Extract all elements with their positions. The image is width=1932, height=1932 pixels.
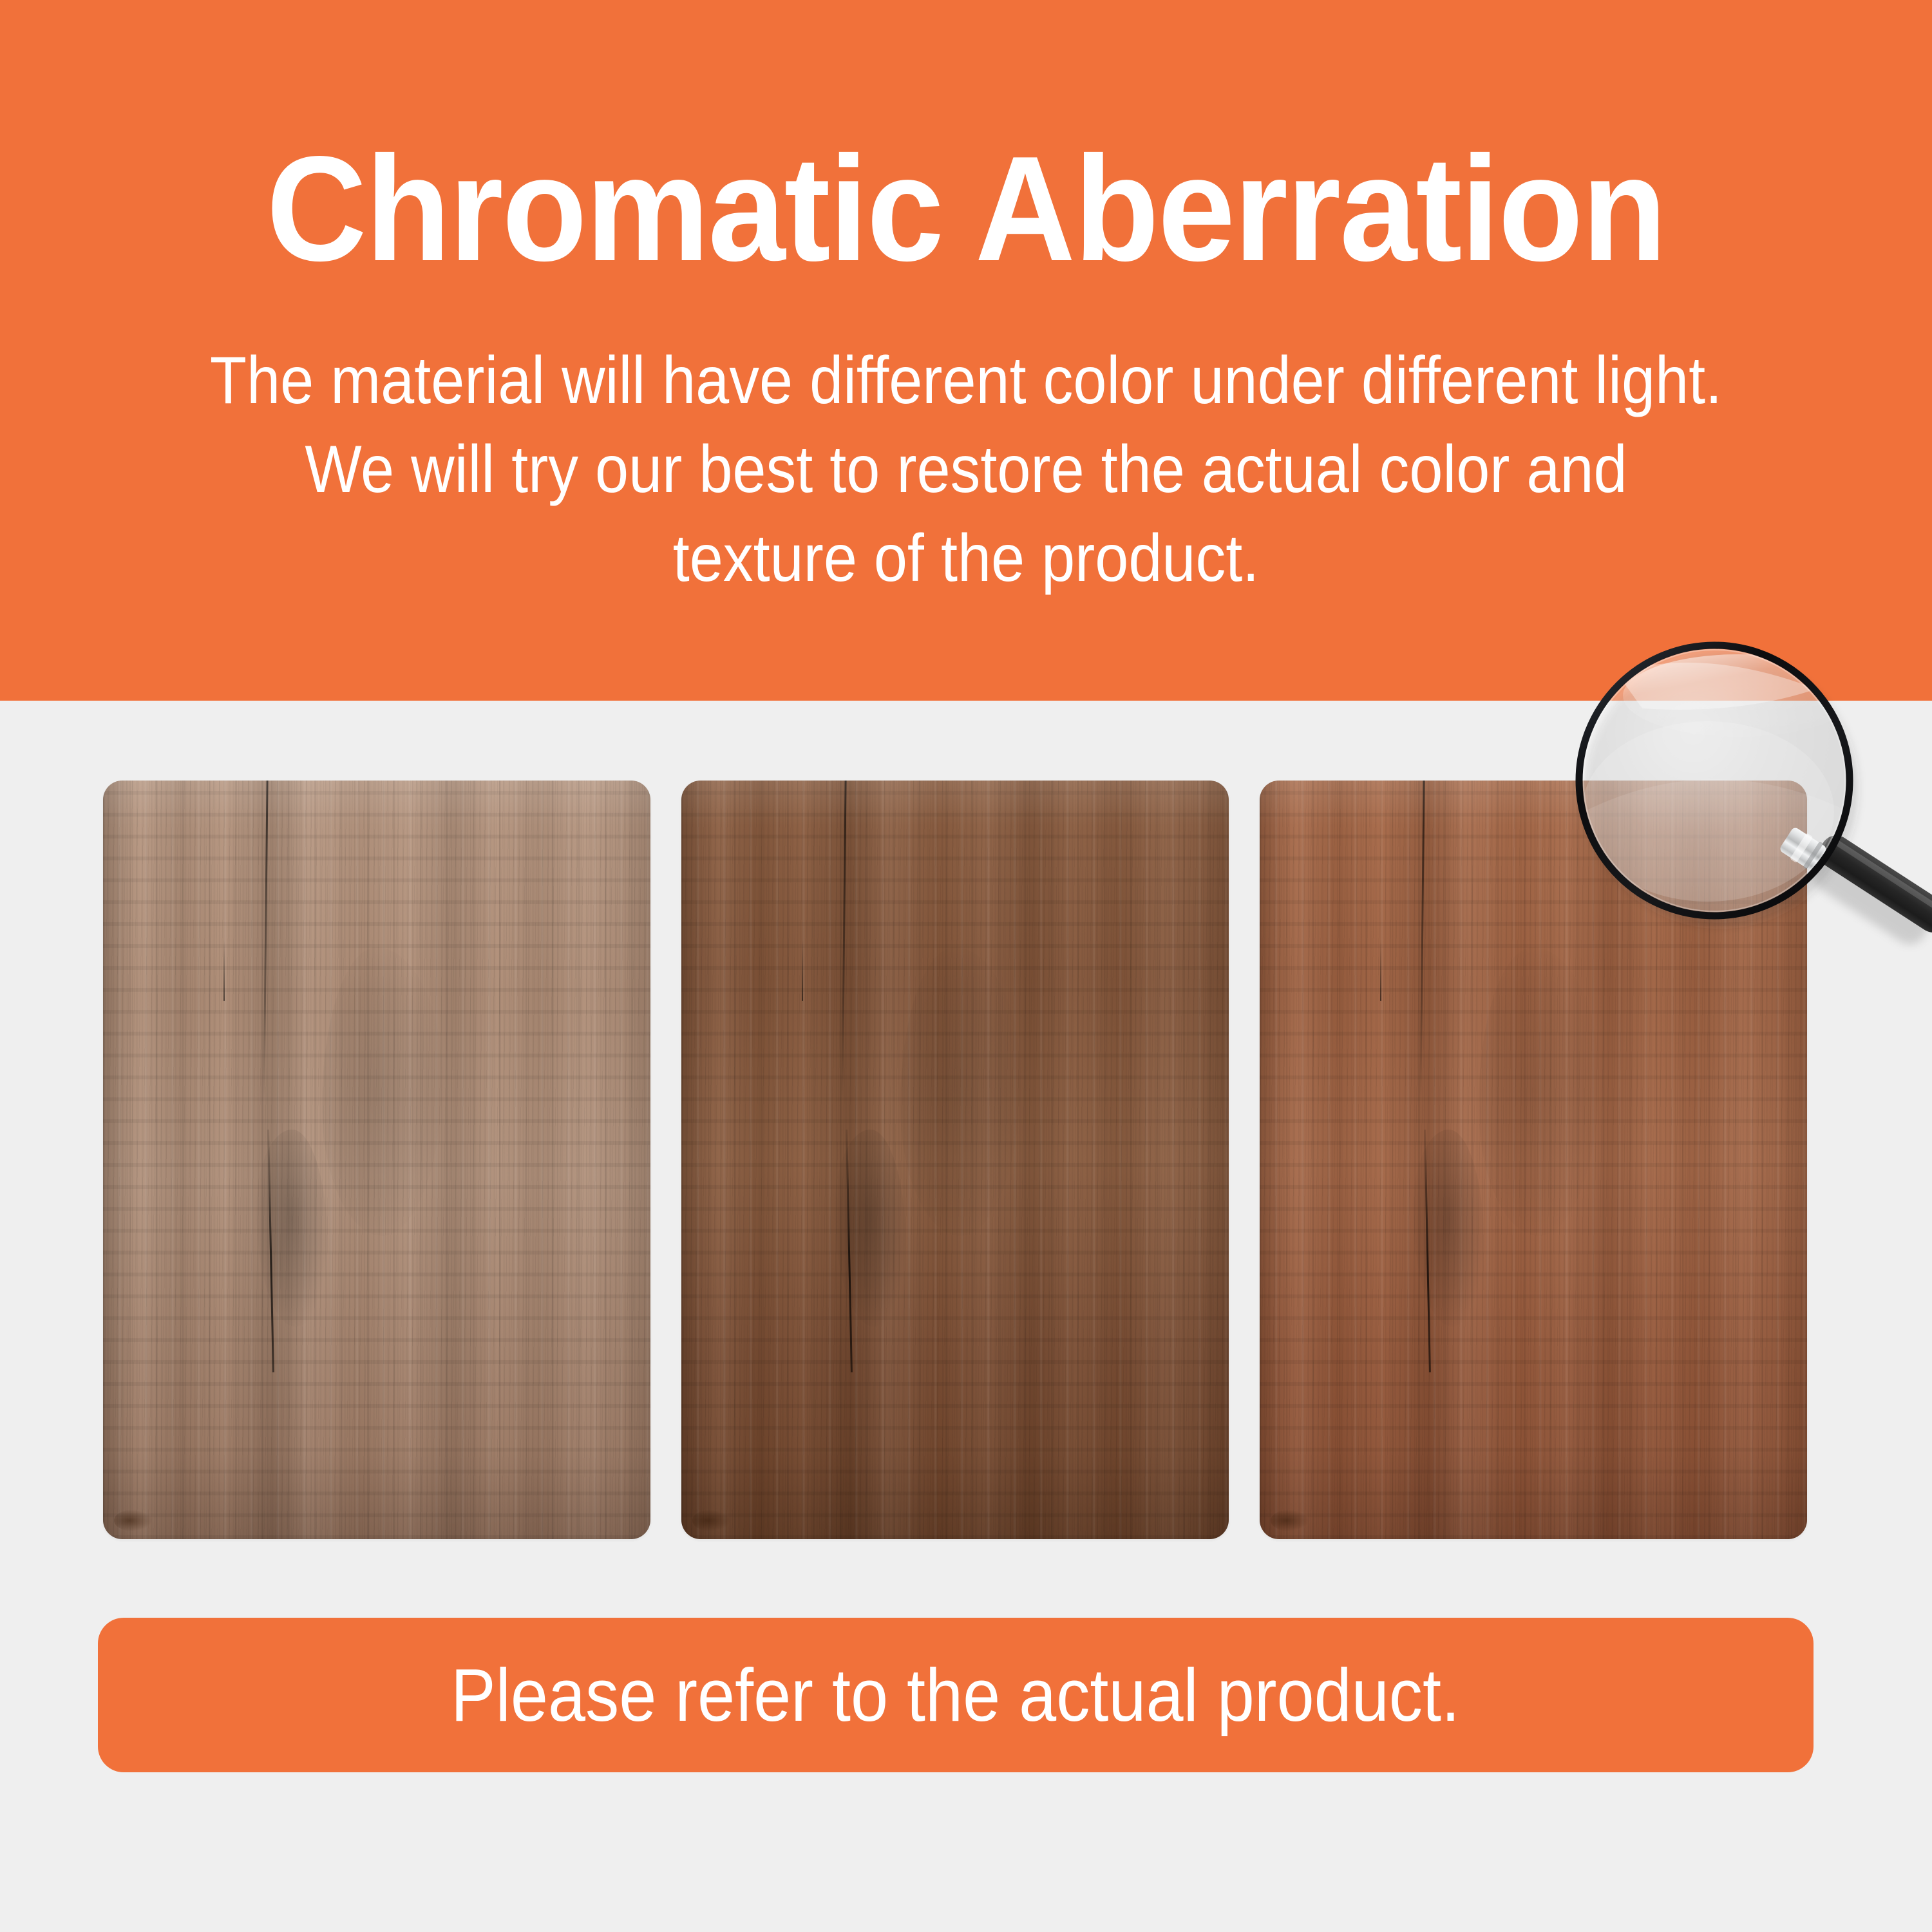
subtitle-line-3: texture of the product. [97,514,1835,603]
wood-texture-medium [681,781,1229,1539]
page-title: Chromatic Aberration [68,129,1864,290]
header-band: Chromatic Aberration The material will h… [0,0,1932,701]
handle-shadow [1807,850,1932,951]
warm-chestnut-swatch[interactable]: Warm reddish chestnut wood finish [1260,781,1807,1539]
subtitle-line-2: We will try our best to restore the actu… [97,425,1835,514]
cta-label: Please refer to the actual product. [451,1656,1461,1734]
cta-banner[interactable]: Please refer to the actual product. [98,1618,1814,1772]
medium-walnut-swatch[interactable]: Medium walnut brown wood finish [681,781,1229,1539]
chromatic-aberration-infographic: Chromatic Aberration The material will h… [0,0,1932,1932]
subtitle-line-1: The material will have different color u… [97,336,1835,425]
magnifier-handle [1814,829,1932,938]
light-oak-swatch[interactable]: Light oak / natural beige wood finish [103,781,650,1539]
wood-swatch-row: Light oak / natural beige wood finish Me… [103,781,1807,1539]
header-subtitle: The material will have different color u… [97,336,1835,603]
wood-texture-warm [1260,781,1807,1539]
wood-texture-light [103,781,650,1539]
